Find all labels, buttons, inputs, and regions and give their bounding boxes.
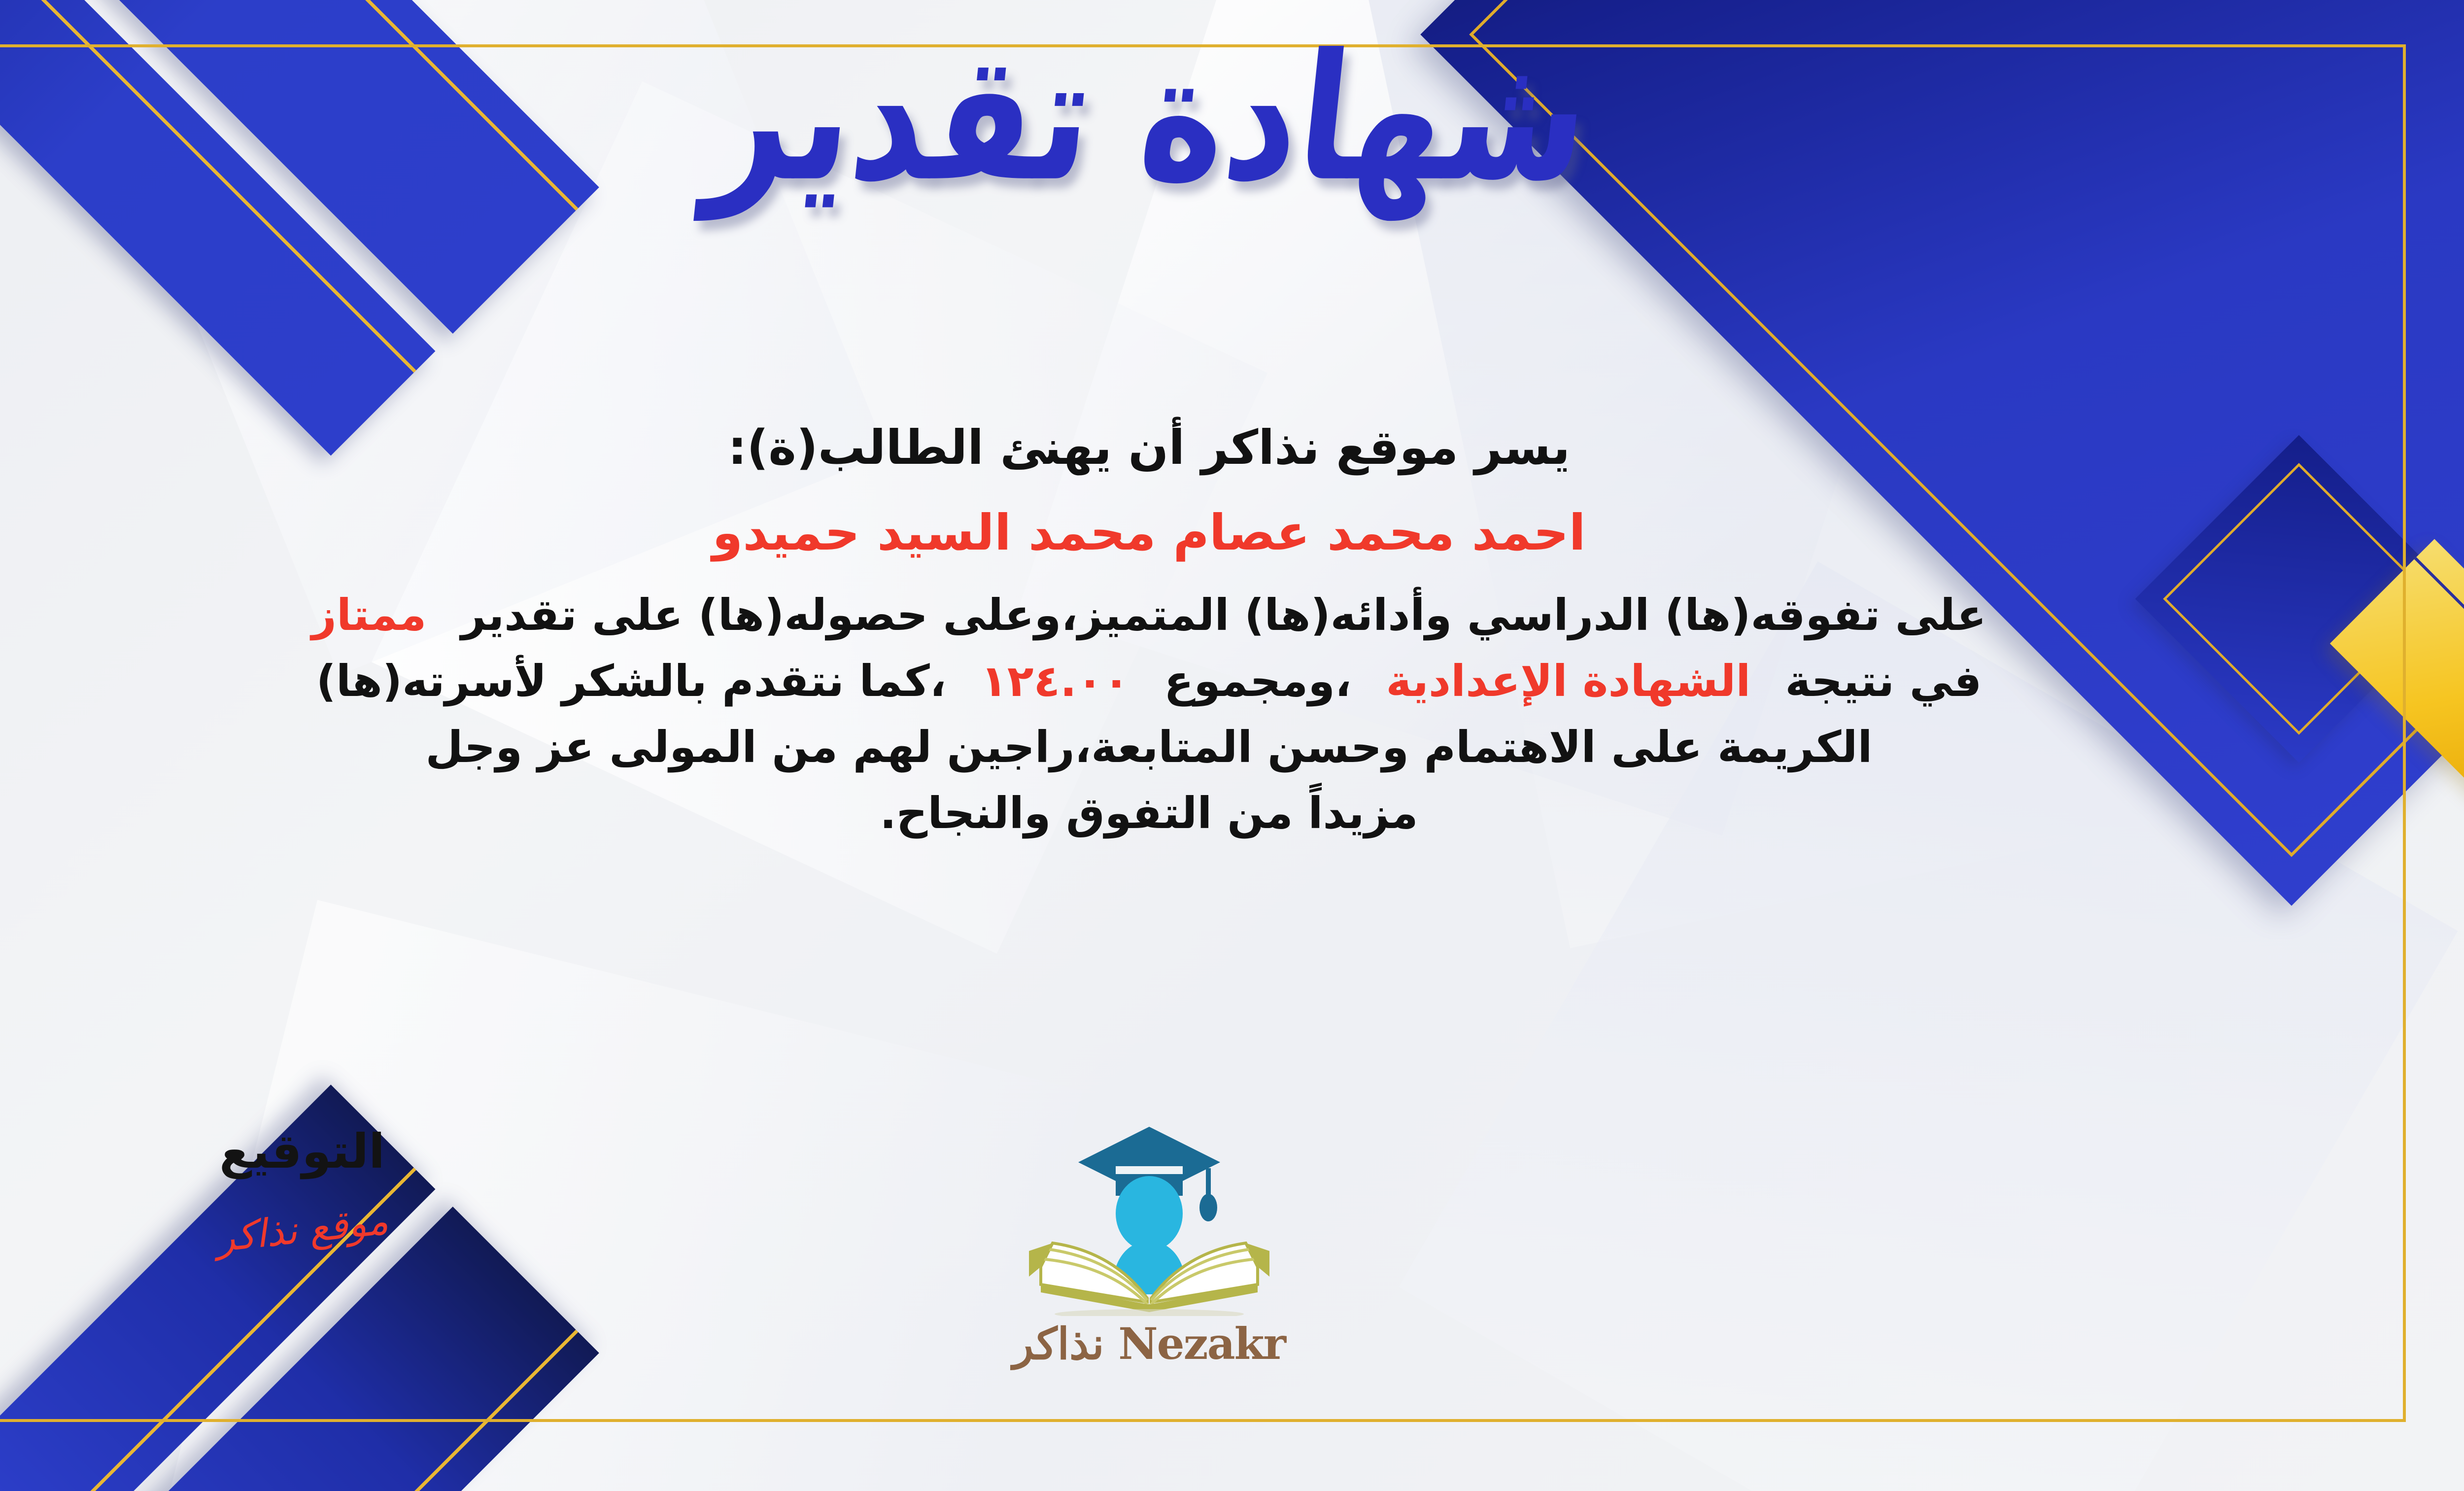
thanks-text: ،كما نتقدم بالشكر لأسرته(ها) xyxy=(316,656,947,706)
certificate-body: يسر موقع نذاكر أن يهنئ الطالب(ة): احمد م… xyxy=(0,414,2316,846)
closing-line: مزيداً من التفوق والنجاح. xyxy=(0,780,2316,846)
logo-wordmark: Nezakr نذاكر xyxy=(972,1318,1327,1369)
student-name: احمد محمد عصام محمد السيد حميدو xyxy=(0,504,2316,561)
grade-value: ممتاز xyxy=(311,589,426,640)
total-score: ١٢٤.٠٠ xyxy=(981,656,1129,706)
total-label: ،ومجموع xyxy=(1164,656,1351,706)
intro-line: يسر موقع نذاكر أن يهنئ الطالب(ة): xyxy=(0,414,2316,481)
achievement-line: على تفوقه(ها) الدراسي وأدائه(ها) المتميز… xyxy=(0,582,2316,648)
certificate-content: شهادة تقدير يسر موقع نذاكر أن يهنئ الطال… xyxy=(0,0,2464,1491)
achievement-text: على تفوقه(ها) الدراسي وأدائه(ها) المتميز… xyxy=(461,589,1986,640)
signature-label: التوقيع xyxy=(130,1124,475,1179)
exam-name: الشهادة الإعدادية xyxy=(1386,656,1750,706)
result-prefix: في نتيجة xyxy=(1785,656,1982,706)
certificate-title-area: شهادة تقدير xyxy=(0,30,2464,208)
page-title: شهادة تقدير xyxy=(699,10,1599,228)
signature-block: التوقيع موقع نذاكر xyxy=(130,1124,475,1252)
signature-mark: موقع نذاكر xyxy=(214,1199,390,1261)
site-logo: Nezakr نذاكر xyxy=(972,1119,1327,1369)
graduate-book-logo-icon xyxy=(1011,1119,1287,1316)
family-thanks-line: الكريمة على الاهتمام وحسن المتابعة،راجين… xyxy=(0,714,2316,780)
exam-result-line: في نتيجةالشهادة الإعدادية،ومجموع١٢٤.٠٠،ك… xyxy=(0,648,2316,714)
certificate-canvas: شهادة تقدير يسر موقع نذاكر أن يهنئ الطال… xyxy=(0,0,2464,1491)
